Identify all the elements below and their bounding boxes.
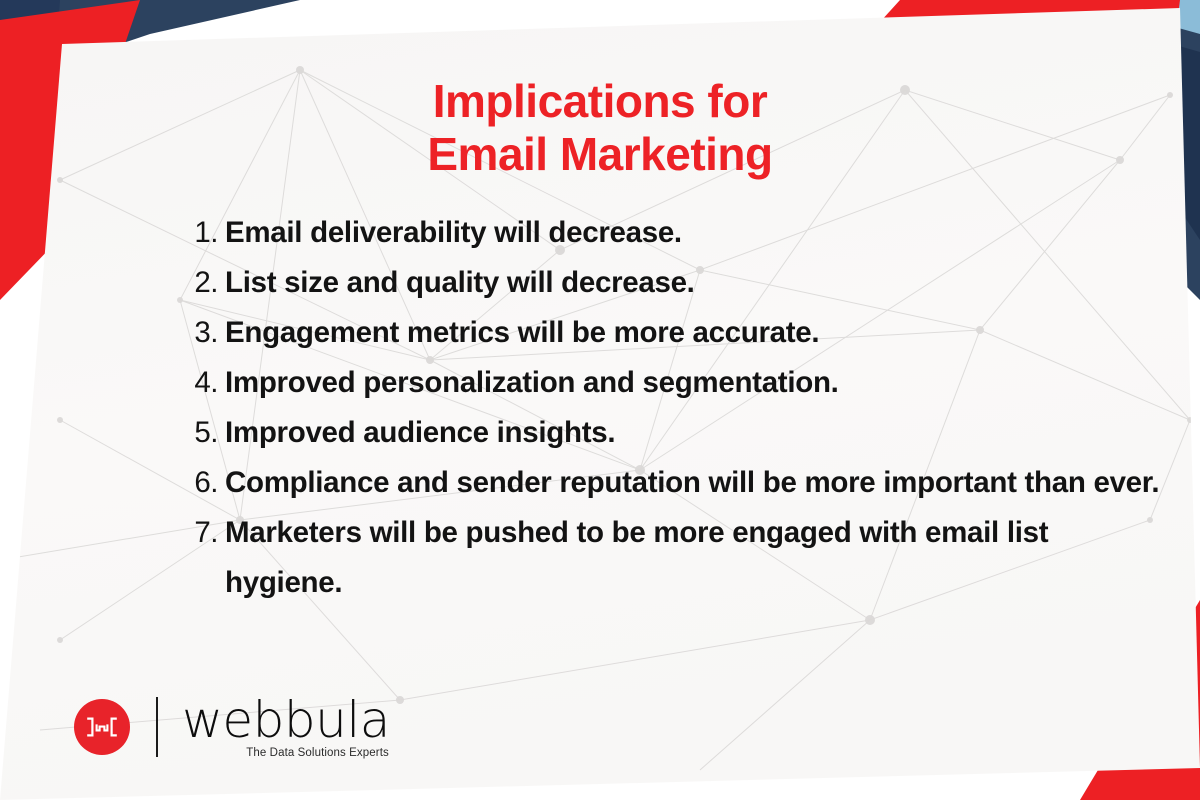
- slide: Implications for Email Marketing 1. Emai…: [0, 0, 1200, 800]
- list-item-number: 2.: [180, 258, 218, 308]
- list-item: 5. Improved audience insights.: [180, 408, 1160, 458]
- logo-wordmark-group: webbula The Data Solutions Experts: [182, 696, 390, 759]
- list-item: 3. Engagement metrics will be more accur…: [180, 308, 1160, 358]
- list-item-number: 1.: [180, 208, 218, 258]
- list-item: 1. Email deliverability will decrease.: [180, 208, 1160, 258]
- page-title: Implications for Email Marketing: [0, 75, 1200, 182]
- title-line-2: Email Marketing: [0, 128, 1200, 181]
- logo-wordmark: webbula: [182, 696, 390, 745]
- webbula-mark-icon: [74, 699, 130, 755]
- list-item-number: 6.: [180, 458, 218, 508]
- list-item: 7. Marketers will be pushed to be more e…: [180, 508, 1160, 608]
- list-item-text: List size and quality will decrease.: [218, 258, 1160, 308]
- list-item-text: Email deliverability will decrease.: [218, 208, 1160, 258]
- list-item-number: 3.: [180, 308, 218, 358]
- list-item-text: Marketers will be pushed to be more enga…: [218, 508, 1160, 608]
- implications-list: 1. Email deliverability will decrease. 2…: [140, 208, 1160, 608]
- list-item: 6. Compliance and sender reputation will…: [180, 458, 1160, 508]
- list-item-text: Engagement metrics will be more accurate…: [218, 308, 1160, 358]
- logo-divider: [156, 697, 158, 757]
- title-line-1: Implications for: [0, 75, 1200, 128]
- slide-content: Implications for Email Marketing 1. Emai…: [0, 0, 1200, 800]
- list-item: 2. List size and quality will decrease.: [180, 258, 1160, 308]
- list-item-text: Improved audience insights.: [218, 408, 1160, 458]
- logo-tagline: The Data Solutions Experts: [246, 747, 389, 759]
- list-item-number: 7.: [180, 508, 218, 558]
- list-item: 4. Improved personalization and segmenta…: [180, 358, 1160, 408]
- webbula-logo: webbula The Data Solutions Experts: [74, 692, 390, 762]
- list-item-text: Improved personalization and segmentatio…: [218, 358, 1160, 408]
- list-item-number: 4.: [180, 358, 218, 408]
- list-item-number: 5.: [180, 408, 218, 458]
- list-item-text: Compliance and sender reputation will be…: [218, 458, 1160, 508]
